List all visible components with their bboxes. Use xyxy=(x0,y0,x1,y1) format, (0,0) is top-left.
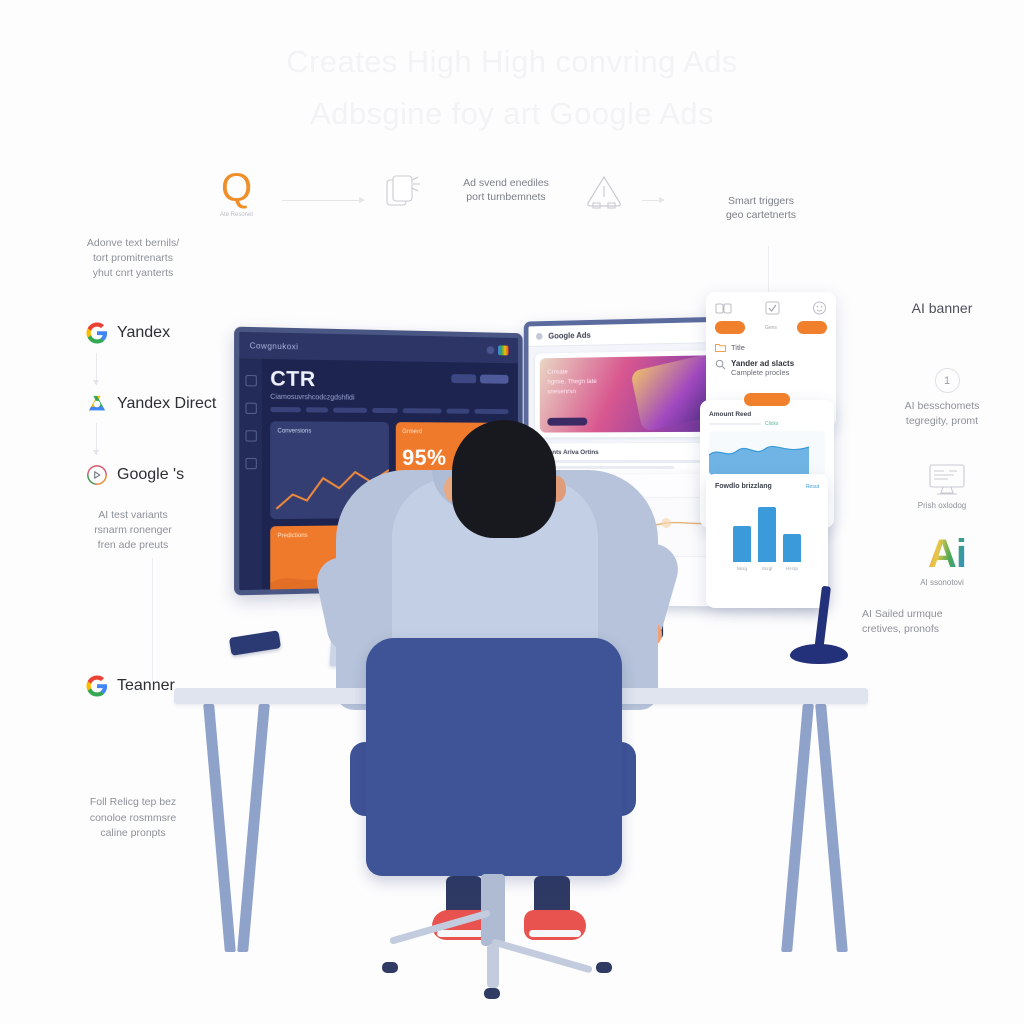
sidebar-icon-4[interactable] xyxy=(245,458,256,469)
left-connector-3 xyxy=(152,558,153,688)
ai-logo-icon: Ai xyxy=(928,534,966,574)
left-note-top: Adonve text bernils/ tort promitrenarts … xyxy=(48,236,218,282)
sidebar-icon-3[interactable] xyxy=(245,430,256,441)
ad-preview-card[interactable]: Crreate hgmie, Thegn late snesenrsn xyxy=(535,350,728,438)
smartphone[interactable] xyxy=(229,630,281,656)
flow-node-search-caption: Ate Resonet xyxy=(220,212,253,220)
left-item-google-s-label: Google 's xyxy=(117,466,184,484)
top-flow-diagram: Q Ate Resonet Ad svend enediles port tur… xyxy=(210,168,830,242)
tab-chip-6[interactable] xyxy=(446,409,469,414)
main-monitor-sidebar[interactable] xyxy=(239,358,262,590)
chair-caster xyxy=(484,988,500,999)
flow-arrow-1 xyxy=(282,200,364,201)
left-connector-2 xyxy=(96,423,97,455)
chair-backrest xyxy=(366,638,622,876)
drive-triangle-icon xyxy=(86,394,108,414)
bar-chart-title: Fowdlo brizzlang xyxy=(715,483,772,490)
desk-leg xyxy=(815,704,848,952)
export-pill[interactable] xyxy=(451,374,508,384)
right-shoe xyxy=(524,910,586,940)
tab-chip-7[interactable] xyxy=(474,409,508,414)
bar-2 xyxy=(758,507,776,562)
left-rail: Adonve text bernils/ tort promitrenarts … xyxy=(34,236,234,841)
right-label-ai-banner: AI banner xyxy=(862,300,1022,316)
recent-activity-title: Rennts Ariva Ortins xyxy=(541,449,722,456)
tab-chip-4[interactable] xyxy=(372,408,398,413)
smiley-icon xyxy=(812,301,827,315)
pickin-tag-2[interactable] xyxy=(606,561,655,570)
google-g-icon xyxy=(86,675,108,697)
left-item-yandex[interactable]: Yandex xyxy=(86,322,234,344)
title-label: Title xyxy=(731,343,745,352)
flow-connector-vertical xyxy=(768,246,769,292)
kpi-card-conversions-label: Conversions xyxy=(277,428,381,435)
pickin-tag-1[interactable] xyxy=(550,561,598,570)
search-icon[interactable] xyxy=(715,359,726,370)
kpi-subtitle: Ciamosuvrshcodczgdshfidi xyxy=(270,394,354,402)
kpi-card-predictions[interactable]: Predictions xyxy=(270,525,388,595)
bar-chart-bars xyxy=(715,506,819,562)
pickin-chart-subtitle: vddeuanvsaddtcfo xyxy=(555,503,594,509)
bar-chart-badge: Resut xyxy=(806,484,819,490)
main-monitor-title: Cowgnukoxi xyxy=(250,341,299,351)
scene-root: Creates High High convring Ads Adbsgine … xyxy=(0,0,1024,1024)
ad-assets-heading: Yander ad slacts xyxy=(731,359,794,368)
desk-leg xyxy=(237,704,270,952)
tab-chip-1[interactable] xyxy=(270,407,301,412)
chair-base-arm xyxy=(491,938,593,973)
kpi-card-grid: Conversions Grmerd 95% Predictions xyxy=(270,421,508,595)
kpi-card-predictions-button[interactable] xyxy=(278,593,325,595)
window-dot-icon xyxy=(487,346,495,354)
creative-button[interactable] xyxy=(797,321,827,334)
search-q-icon: Q xyxy=(221,168,252,208)
chair-base-arm xyxy=(487,944,499,988)
right-rail: AI banner 1 AI besschomets tegregity, pr… xyxy=(862,300,1024,637)
google-g-icon xyxy=(86,322,108,344)
export-pill-b xyxy=(480,375,508,384)
main-monitor: Cowgnukoxi CTR Ciamosuvrshcodczgdshfidi xyxy=(234,327,523,596)
bar-1 xyxy=(733,526,751,562)
bar-3 xyxy=(783,534,801,562)
google-favicon-icon xyxy=(498,345,508,355)
export-pill-a xyxy=(451,374,476,383)
left-item-yandex-label: Yandex xyxy=(117,324,170,342)
pickin-panel-title: Pickin xyxy=(550,483,575,493)
ad-assets-subheading: Camplete procles xyxy=(731,368,794,377)
ad-banner-cta-button[interactable] xyxy=(547,418,587,426)
secondary-monitor-title: Google Ads xyxy=(548,330,590,340)
kpi-card-rate[interactable]: Rate 83.5% xyxy=(395,524,508,596)
left-item-teanner-label: Teanner xyxy=(117,677,175,695)
amount-reed-title: Amount Reed xyxy=(709,411,825,418)
kpi-card-rate-value: 83.5% xyxy=(402,546,502,568)
step-badge-1: 1 xyxy=(935,368,960,393)
flow-node-warning xyxy=(582,170,626,214)
left-note-bottom: Foll Relicg tep bez conoloe rosmmsre cal… xyxy=(48,795,218,841)
checkbox-icon[interactable] xyxy=(765,301,780,315)
tab-chip-2[interactable] xyxy=(306,407,328,412)
kpi-card-conversions[interactable]: Conversions xyxy=(270,421,388,519)
folder-icon xyxy=(715,343,726,352)
documents-icon xyxy=(380,172,422,214)
left-item-google-s[interactable]: Google 's xyxy=(86,464,234,486)
right-note-bottom: AI Sailed urmque cretives, pronofs xyxy=(862,607,1024,637)
left-item-yandex-direct-label: Yandex Direct xyxy=(117,395,216,413)
generate-button[interactable] xyxy=(744,393,790,406)
right-caption-monitor: Prish oxlodog xyxy=(862,500,1022,512)
sidebar-icon-2[interactable] xyxy=(245,403,256,414)
flow-arrow-2 xyxy=(642,200,664,201)
flow-node-documents xyxy=(380,172,422,214)
chair-caster xyxy=(596,962,612,973)
tab-chip-5[interactable] xyxy=(403,408,442,413)
left-connector-1 xyxy=(96,353,97,385)
tablet-device[interactable] xyxy=(622,579,663,638)
area-chart-sparkline xyxy=(270,559,388,596)
desktop-monitor-icon xyxy=(927,463,967,497)
line-chart-sparkline xyxy=(272,464,388,517)
window-dot-icon xyxy=(536,332,543,339)
recent-activity-lines xyxy=(541,460,722,469)
kpi-card-ctr[interactable]: Grmerd 95% xyxy=(395,422,508,518)
sidebar-icon-1[interactable] xyxy=(245,375,256,386)
kpi-card-ctr-value: 95% xyxy=(402,445,502,471)
flow-node-search: Q Ate Resonet xyxy=(220,168,253,220)
ad-banner-text: Crreate hgmie, Thegn late snesenrsn xyxy=(547,367,597,396)
amount-reed-area-chart xyxy=(709,431,825,475)
left-item-yandex-direct[interactable]: Yandex Direct xyxy=(86,394,234,414)
image-pair-icon xyxy=(715,302,732,315)
warning-triangle-icon xyxy=(582,170,626,214)
kpi-title: CTR xyxy=(270,367,354,392)
amount-reed-subline xyxy=(709,423,761,426)
amount-reed-legend: Clicks xyxy=(765,421,778,427)
page-title-line-2: Adbsgine foy art Google Ads xyxy=(0,96,1024,132)
desk-leg xyxy=(781,704,814,952)
alert-badge-icon xyxy=(488,429,502,444)
right-note-assets: AI besschomets tegregity, promt xyxy=(862,399,1022,429)
ads-button[interactable] xyxy=(715,321,745,334)
bar-chart-panel: Fowdlo brizzlang Resut Mcrg Scrgl Ht-Up xyxy=(706,474,828,608)
circle-arrow-icon xyxy=(86,464,108,486)
flow-text-ad-variants: Ad svend enediles port turnbemnets xyxy=(436,176,576,204)
bar-label-2: Scrgl xyxy=(758,566,776,571)
main-monitor-tabs[interactable] xyxy=(270,407,508,414)
gens-label: Gens xyxy=(765,325,777,331)
chair-caster xyxy=(382,962,398,973)
kpi-card-rate-label: Rate xyxy=(402,531,502,538)
left-note-mid: AI test variants rsnarm ronenger fren ad… xyxy=(48,508,218,554)
kpi-card-predictions-label: Predictions xyxy=(277,532,381,539)
ad-banner-creative: Crreate hgmie, Thegn late snesenrsn xyxy=(540,355,723,433)
bar-label-1: Mcrg xyxy=(733,566,751,571)
desk-lamp-base xyxy=(790,644,848,664)
bar-label-3: Ht-Up xyxy=(783,566,801,571)
page-title-line-1: Creates High High convring Ads xyxy=(0,44,1024,80)
right-caption-ai-logo: AI ssonotovi xyxy=(862,577,1022,589)
flow-text-smart-triggers: Smart triggers geo cartetnerts xyxy=(686,194,836,222)
tab-chip-3[interactable] xyxy=(333,408,367,413)
